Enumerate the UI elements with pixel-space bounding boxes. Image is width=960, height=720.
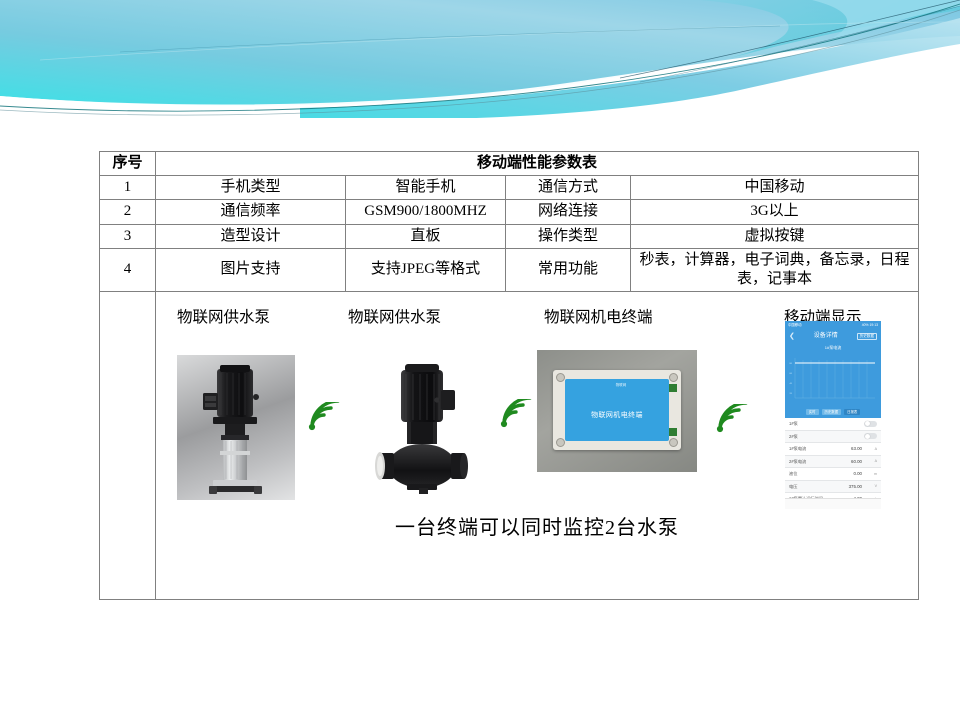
device-caption-terminal: 物联网机电终端 — [544, 308, 653, 328]
chevron-left-icon[interactable]: ❮ — [789, 332, 795, 341]
phone-nav-bar: ❮ 设备详情 历史数据 — [785, 330, 881, 343]
list-item[interactable]: 1#泵 — [785, 418, 881, 431]
phone-line-chart: 8060 4020 — [789, 352, 877, 408]
row-key-2: 网络连接 — [506, 200, 631, 224]
svg-text:20: 20 — [790, 393, 793, 395]
table-row: 2 通信频率 GSM900/1800MHZ 网络连接 3G以上 — [100, 200, 919, 224]
toggle-switch[interactable] — [864, 421, 877, 427]
wifi-signal-icon — [715, 404, 749, 440]
mobile-app-screenshot: 中国移动 40% 19:13 ❮ 设备详情 历史数据 — [785, 321, 881, 509]
header-index-cell: 序号 — [100, 152, 156, 176]
row-key-2: 常用功能 — [506, 248, 631, 291]
table-header-row: 序号 移动端性能参数表 — [100, 152, 919, 176]
list-item[interactable]: 2#泵 — [785, 431, 881, 444]
svg-text:60: 60 — [790, 373, 793, 375]
row-key-2: 操作类型 — [506, 224, 631, 248]
row-key-2: 通信方式 — [506, 176, 631, 200]
phone-status-bar: 中国移动 40% 19:13 — [785, 321, 881, 330]
list-item: 1#泵电流 63.00 A — [785, 443, 881, 456]
inline-water-pump-image — [367, 352, 485, 500]
diagram-cell: 物联网供水泵 物联网供水泵 物联网机电终端 移动端显示 — [156, 292, 919, 600]
mobile-spec-table: 序号 移动端性能参数表 1 手机类型 智能手机 通信方式 中国移动 2 通信频率… — [99, 151, 919, 600]
row-value-1: 支持JPEG等格式 — [346, 248, 506, 291]
row-value-1: 直板 — [346, 224, 506, 248]
diagram-spacer-cell — [100, 292, 156, 600]
screw-icon — [556, 373, 565, 382]
phone-tab-bar[interactable] — [785, 498, 881, 509]
row-unit: A — [870, 459, 877, 464]
screw-icon — [669, 373, 678, 382]
row-value: 63.00 — [851, 446, 862, 452]
screw-icon — [669, 438, 678, 447]
device-caption-pump1: 物联网供水泵 — [177, 308, 270, 328]
row-label: 2#泵 — [789, 434, 798, 439]
row-value-2: 3G以上 — [631, 200, 919, 224]
status-carrier: 中国移动 — [788, 323, 802, 327]
row-value: 60.00 — [851, 459, 862, 465]
row-label: 电压 — [789, 484, 797, 489]
decorative-wave-banner — [0, 0, 960, 118]
row-key-1: 造型设计 — [156, 224, 346, 248]
diagram-area: 物联网供水泵 物联网供水泵 物联网机电终端 移动端显示 — [159, 294, 915, 597]
row-label: 1#泵电流 — [789, 446, 806, 451]
row-value-2: 中国移动 — [631, 176, 919, 200]
phone-chart-panel: 1#泵电流 — [785, 343, 881, 418]
row-key-1: 手机类型 — [156, 176, 346, 200]
svg-text:40: 40 — [790, 383, 793, 385]
spec-table-wrapper: 序号 移动端性能参数表 1 手机类型 智能手机 通信方式 中国移动 2 通信频率… — [99, 151, 918, 600]
diagram-note: 一台终端可以同时监控2台水泵 — [159, 516, 915, 542]
row-label: 2#泵电流 — [789, 459, 806, 464]
list-item: 液位 0.00 m — [785, 468, 881, 481]
phone-chart-title: 1#泵电流 — [785, 343, 881, 350]
row-value-1: GSM900/1800MHZ — [346, 200, 506, 224]
diagram-row: 物联网供水泵 物联网供水泵 物联网机电终端 移动端显示 — [100, 292, 919, 600]
row-label: 1#泵 — [789, 421, 798, 426]
phone-nav-title: 设备详情 — [814, 333, 838, 341]
row-key-1: 通信频率 — [156, 200, 346, 224]
phone-chart-range-buttons: 实时 历史数据 日报表 — [785, 409, 881, 415]
table-row: 4 图片支持 支持JPEG等格式 常用功能 秒表，计算器，电子词典，备忘录，日程… — [100, 248, 919, 291]
toggle-switch[interactable] — [864, 433, 877, 439]
status-battery-time: 40% 19:13 — [862, 323, 878, 327]
terminal-brand-text: 物联网 — [573, 383, 669, 387]
svg-text:80: 80 — [790, 363, 793, 365]
chart-range-button[interactable]: 实时 — [806, 409, 819, 415]
terminal-label-text: 物联网机电终端 — [565, 412, 669, 421]
terminal-label: 物联网 物联网机电终端 — [565, 379, 669, 441]
row-unit: V — [870, 484, 877, 489]
row-value-1: 智能手机 — [346, 176, 506, 200]
wifi-signal-icon — [307, 402, 341, 438]
row-label: 液位 — [789, 471, 797, 476]
list-item: 2#泵电流 60.00 A — [785, 456, 881, 469]
row-value: 375.00 — [849, 484, 862, 490]
row-value-2: 虚拟按键 — [631, 224, 919, 248]
slide-canvas: 序号 移动端性能参数表 1 手机类型 智能手机 通信方式 中国移动 2 通信频率… — [0, 0, 960, 720]
row-unit: A — [870, 447, 877, 452]
table-title-cell: 移动端性能参数表 — [156, 152, 919, 176]
iot-terminal-image: 物联网 物联网机电终端 — [537, 350, 697, 472]
list-item: 电压 375.00 V — [785, 481, 881, 494]
row-value-2: 秒表，计算器，电子词典，备忘录，日程表，记事本 — [631, 248, 919, 291]
terminal-body: 物联网 物联网机电终端 — [553, 370, 681, 450]
table-row: 1 手机类型 智能手机 通信方式 中国移动 — [100, 176, 919, 200]
row-no: 2 — [100, 200, 156, 224]
wifi-signal-icon — [499, 399, 533, 435]
phone-nav-right-button[interactable]: 历史数据 — [857, 333, 877, 340]
row-no: 1 — [100, 176, 156, 200]
row-no: 3 — [100, 224, 156, 248]
row-no: 4 — [100, 248, 156, 291]
row-value: 0.00 — [853, 471, 862, 477]
row-unit: m — [870, 472, 877, 477]
vertical-multistage-pump-image — [177, 355, 295, 500]
screw-icon — [556, 438, 565, 447]
chart-range-button[interactable]: 历史数据 — [822, 409, 842, 415]
chart-range-button[interactable]: 日报表 — [844, 409, 860, 415]
row-key-1: 图片支持 — [156, 248, 346, 291]
table-row: 3 造型设计 直板 操作类型 虚拟按键 — [100, 224, 919, 248]
device-caption-pump2: 物联网供水泵 — [348, 308, 441, 328]
